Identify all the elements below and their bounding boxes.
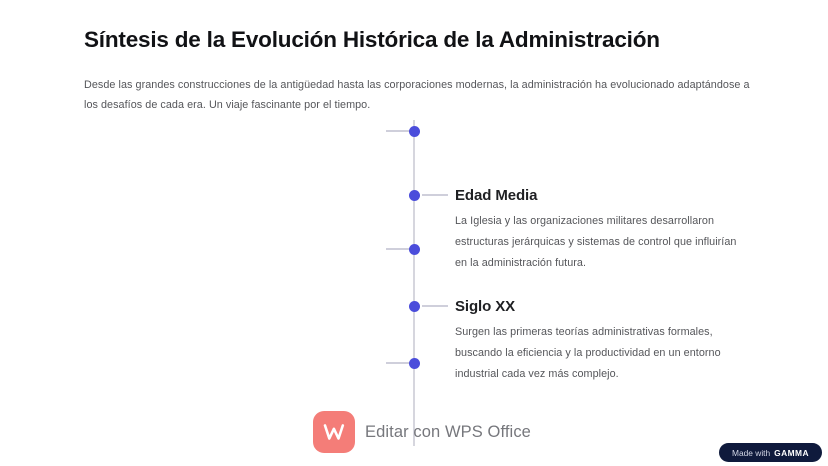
timeline-connector-stub xyxy=(422,194,448,196)
timeline-dot[interactable] xyxy=(409,126,420,137)
timeline-axis-line xyxy=(413,120,415,446)
timeline-dot[interactable] xyxy=(409,301,420,312)
gamma-badge-brand: GAMMA xyxy=(774,448,809,458)
timeline-item-body: La Iglesia y las organizaciones militare… xyxy=(455,211,747,274)
timeline-dot[interactable] xyxy=(409,190,420,201)
timeline-connector-stub xyxy=(422,305,448,307)
timeline-item-heading: Siglo XX xyxy=(455,298,515,315)
made-with-gamma-badge[interactable]: Made with GAMMA xyxy=(719,443,822,462)
timeline-dot[interactable] xyxy=(409,244,420,255)
timeline-dot[interactable] xyxy=(409,358,420,369)
gamma-badge-prefix: Made with xyxy=(732,448,770,458)
timeline: Antigüedad Grandes imperios como Egipto … xyxy=(0,0,828,466)
timeline-item-body: Surgen las primeras teorías administrati… xyxy=(455,322,747,385)
timeline-item-heading: Edad Media xyxy=(455,187,537,204)
